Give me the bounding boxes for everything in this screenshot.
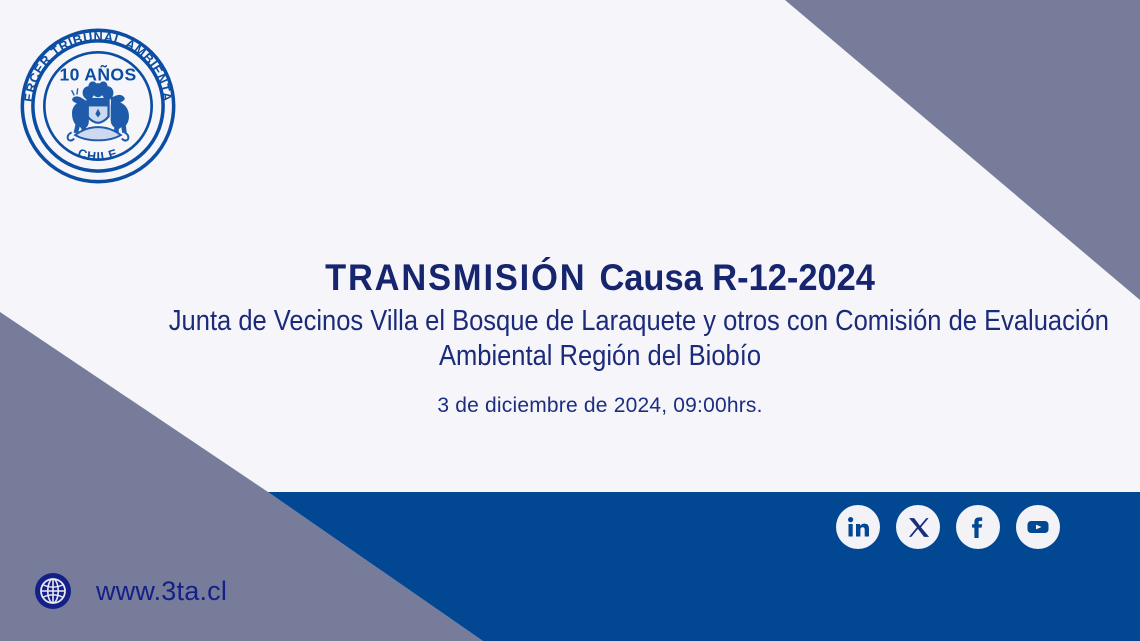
x-twitter-icon [906,515,931,540]
case-subtitle-line-1: Junta de Vecinos Villa el Bosque de Lara… [169,304,1031,339]
website-link[interactable]: www.3ta.cl [32,570,227,612]
seal-bottom-text: CHILE [76,146,120,164]
youtube-icon [1025,514,1051,540]
x-twitter-button[interactable] [896,505,940,549]
case-subtitle: Junta de Vecinos Villa el Bosque de Lara… [169,304,1031,375]
institution-logo: TERCER TRIBUNAL AMBIENTAL CHILE 10 AÑOS [10,18,186,194]
coat-of-arms [68,81,129,140]
youtube-button[interactable] [1016,505,1060,549]
broadcast-title-card: TERCER TRIBUNAL AMBIENTAL CHILE 10 AÑOS [0,0,1140,641]
social-links [836,505,1060,549]
case-subtitle-line-2: Ambiental Región del Biobío [169,339,1031,374]
globe-icon [32,570,74,612]
linkedin-icon [845,514,871,540]
website-url: www.3ta.cl [96,576,227,607]
broadcast-datetime: 3 de diciembre de 2024, 09:00hrs. [110,394,1090,418]
facebook-button[interactable] [956,505,1000,549]
page-title: TRANSMISIÓNCausa R-12-2024 [144,258,1055,299]
linkedin-button[interactable] [836,505,880,549]
title-case-number: Causa R-12-2024 [599,257,874,298]
title-prefix: TRANSMISIÓN [325,257,586,298]
seal-anniversary-text: 10 AÑOS [59,63,136,84]
facebook-icon [965,514,991,540]
broadcast-text-block: TRANSMISIÓNCausa R-12-2024 Junta de Veci… [110,258,1090,418]
